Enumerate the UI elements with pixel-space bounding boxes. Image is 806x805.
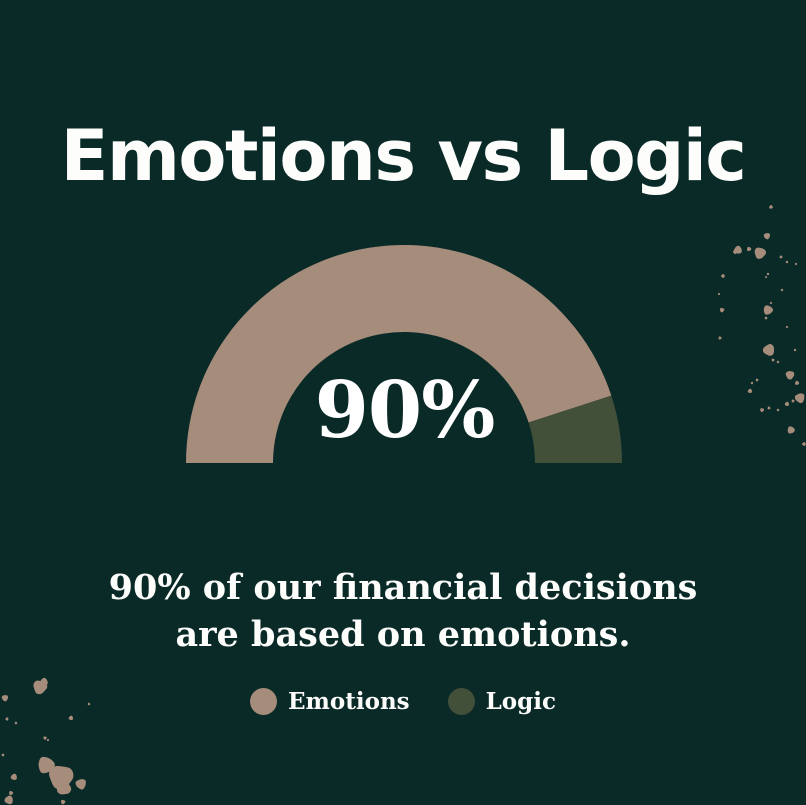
emotions-swatch-icon bbox=[250, 688, 277, 715]
caption-text: 90% of our financial decisions are based… bbox=[73, 565, 733, 658]
infographic-poster: Emotions vs Logic 90% 90% of our financi… bbox=[0, 0, 806, 805]
logic-swatch-icon bbox=[448, 688, 475, 715]
gauge-center-value: 90% bbox=[186, 372, 623, 450]
legend-label-emotions: Emotions bbox=[288, 690, 410, 713]
page-title: Emotions vs Logic bbox=[0, 121, 806, 191]
legend: Emotions Logic bbox=[0, 688, 806, 715]
legend-label-logic: Logic bbox=[486, 690, 556, 713]
legend-item-emotions: Emotions bbox=[250, 688, 410, 715]
legend-item-logic: Logic bbox=[448, 688, 556, 715]
